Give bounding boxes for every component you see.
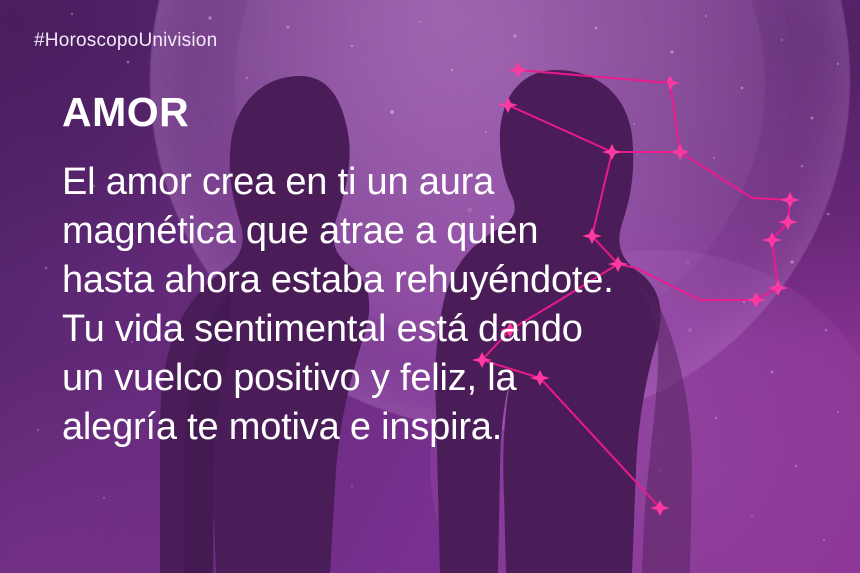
horoscope-card: #HoroscopoUnivision AMOR El amor crea en…: [0, 0, 860, 573]
body-line: magnética que atrae a quien: [62, 207, 762, 256]
body-line: El amor crea en ti un aura: [62, 158, 762, 207]
page-title: AMOR: [62, 92, 189, 133]
body-line: un vuelco positivo y feliz, la: [62, 354, 762, 403]
horoscope-body: El amor crea en ti un aura magnética que…: [62, 158, 762, 452]
body-line: hasta ahora estaba rehuyéndote.: [62, 256, 762, 305]
body-line: alegría te motiva e inspira.: [62, 403, 762, 452]
body-line: Tu vida sentimental está dando: [62, 305, 762, 354]
hashtag-label: #HoroscopoUnivision: [34, 30, 217, 52]
